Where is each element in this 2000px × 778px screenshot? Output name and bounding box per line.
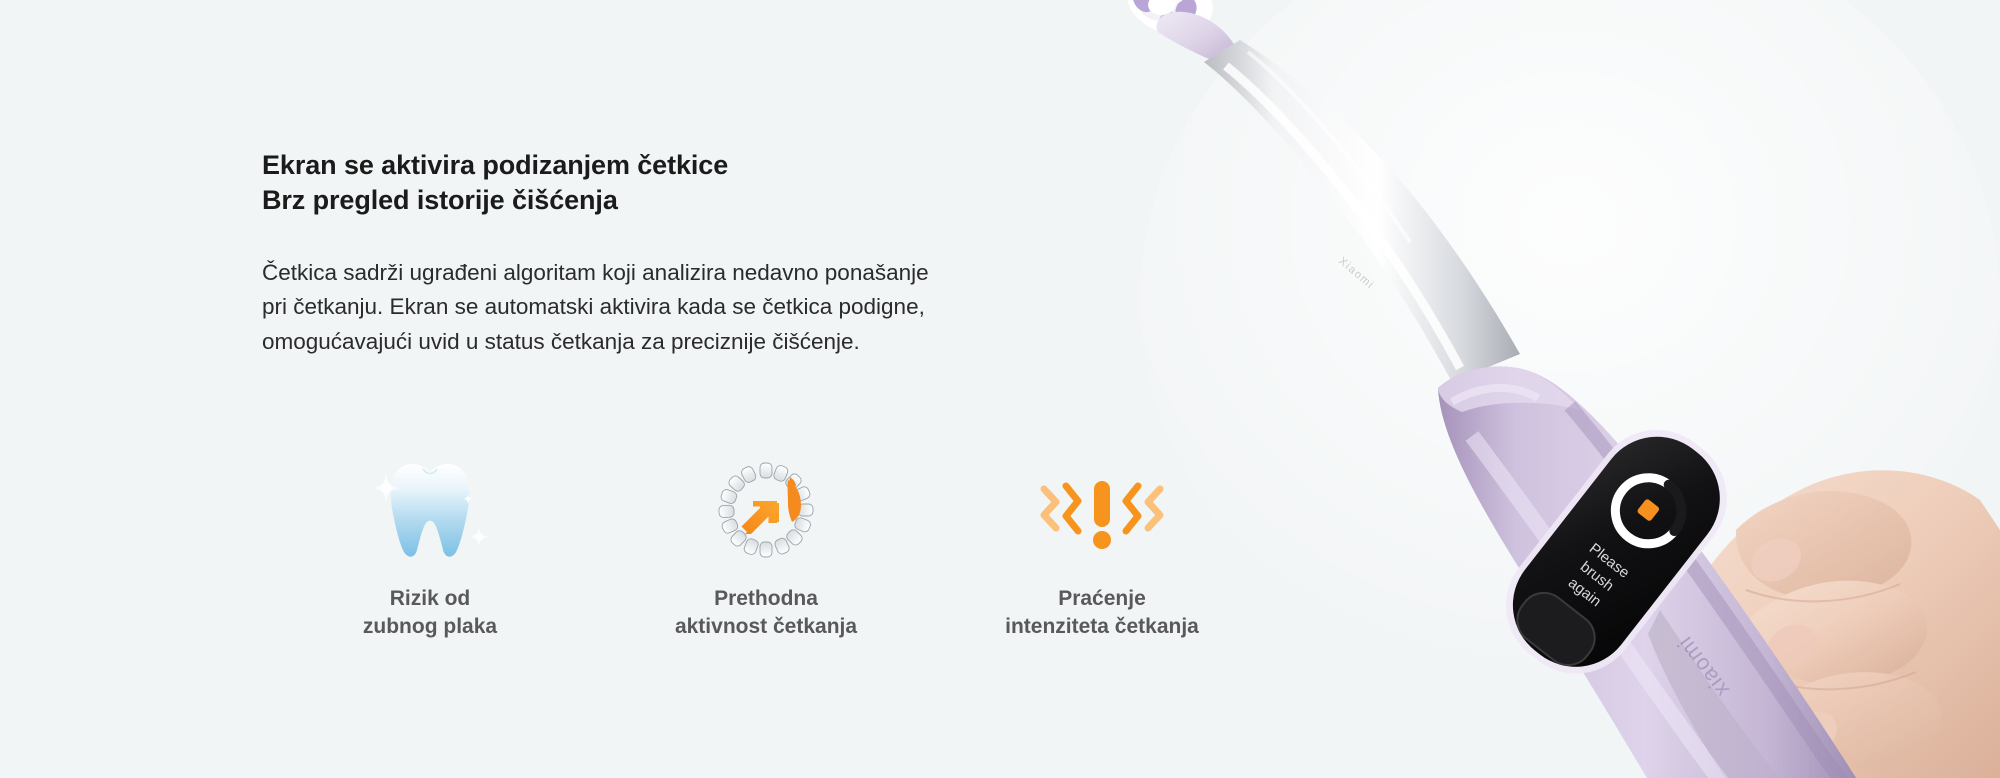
page-title: Ekran se aktivira podizanjem četkice Brz… bbox=[262, 148, 1162, 218]
feature-list: Rizik od zubnog plaka bbox=[262, 455, 1272, 640]
body-line-3: omogućavajući uvid u status četkanja za … bbox=[262, 325, 1162, 359]
feature-label-line-2: zubnog plaka bbox=[363, 613, 497, 641]
svg-text:again: again bbox=[1565, 574, 1604, 610]
feature-label: Praćenje intenziteta četkanja bbox=[1005, 585, 1199, 640]
vibration-alert-icon bbox=[1027, 455, 1177, 565]
feature-label-line-1: Prethodna bbox=[675, 585, 857, 613]
dental-arch-arrow-icon bbox=[691, 455, 841, 565]
svg-text:Xiaomi: Xiaomi bbox=[1336, 255, 1376, 292]
hand bbox=[1660, 470, 2000, 778]
brush-bristles bbox=[1128, 0, 1213, 35]
feature-item-brushing-intensity: Praćenje intenziteta četkanja bbox=[934, 455, 1270, 640]
feature-label-line-1: Rizik od bbox=[363, 585, 497, 613]
headline-line-2: Brz pregled istorije čišćenja bbox=[262, 183, 1162, 218]
feature-item-plaque-risk: Rizik od zubnog plaka bbox=[262, 455, 598, 640]
product-feature-banner: Ekran se aktivira podizanjem četkice Brz… bbox=[0, 0, 2000, 778]
svg-text:brush: brush bbox=[1577, 558, 1617, 595]
body-line-1: Četkica sadrži ugrađeni algoritam koji a… bbox=[262, 256, 1162, 290]
feature-label-line-2: aktivnost četkanja bbox=[675, 613, 857, 641]
tooth-sparkle-icon bbox=[355, 455, 505, 565]
svg-text:xiaomi: xiaomi bbox=[1672, 631, 1734, 702]
display-text-line-1: Please bbox=[1586, 540, 1633, 582]
toothbrush-display: Please brush again bbox=[1481, 405, 1752, 699]
feature-label-line-1: Praćenje bbox=[1005, 585, 1199, 613]
feature-label: Prethodna aktivnost četkanja bbox=[675, 585, 857, 640]
feature-item-previous-activity: Prethodna aktivnost četkanja bbox=[598, 455, 934, 640]
product-photo-toothbrush-in-hand: Xiaomi Please b bbox=[1100, 0, 2000, 778]
body-line-2: pri četkanju. Ekran se automatski aktivi… bbox=[262, 290, 1162, 324]
body-paragraph: Četkica sadrži ugrađeni algoritam koji a… bbox=[262, 256, 1162, 359]
copy-block: Ekran se aktivira podizanjem četkice Brz… bbox=[262, 148, 1162, 359]
headline-line-1: Ekran se aktivira podizanjem četkice bbox=[262, 150, 728, 180]
feature-label: Rizik od zubnog plaka bbox=[363, 585, 497, 640]
feature-label-line-2: intenziteta četkanja bbox=[1005, 613, 1199, 641]
